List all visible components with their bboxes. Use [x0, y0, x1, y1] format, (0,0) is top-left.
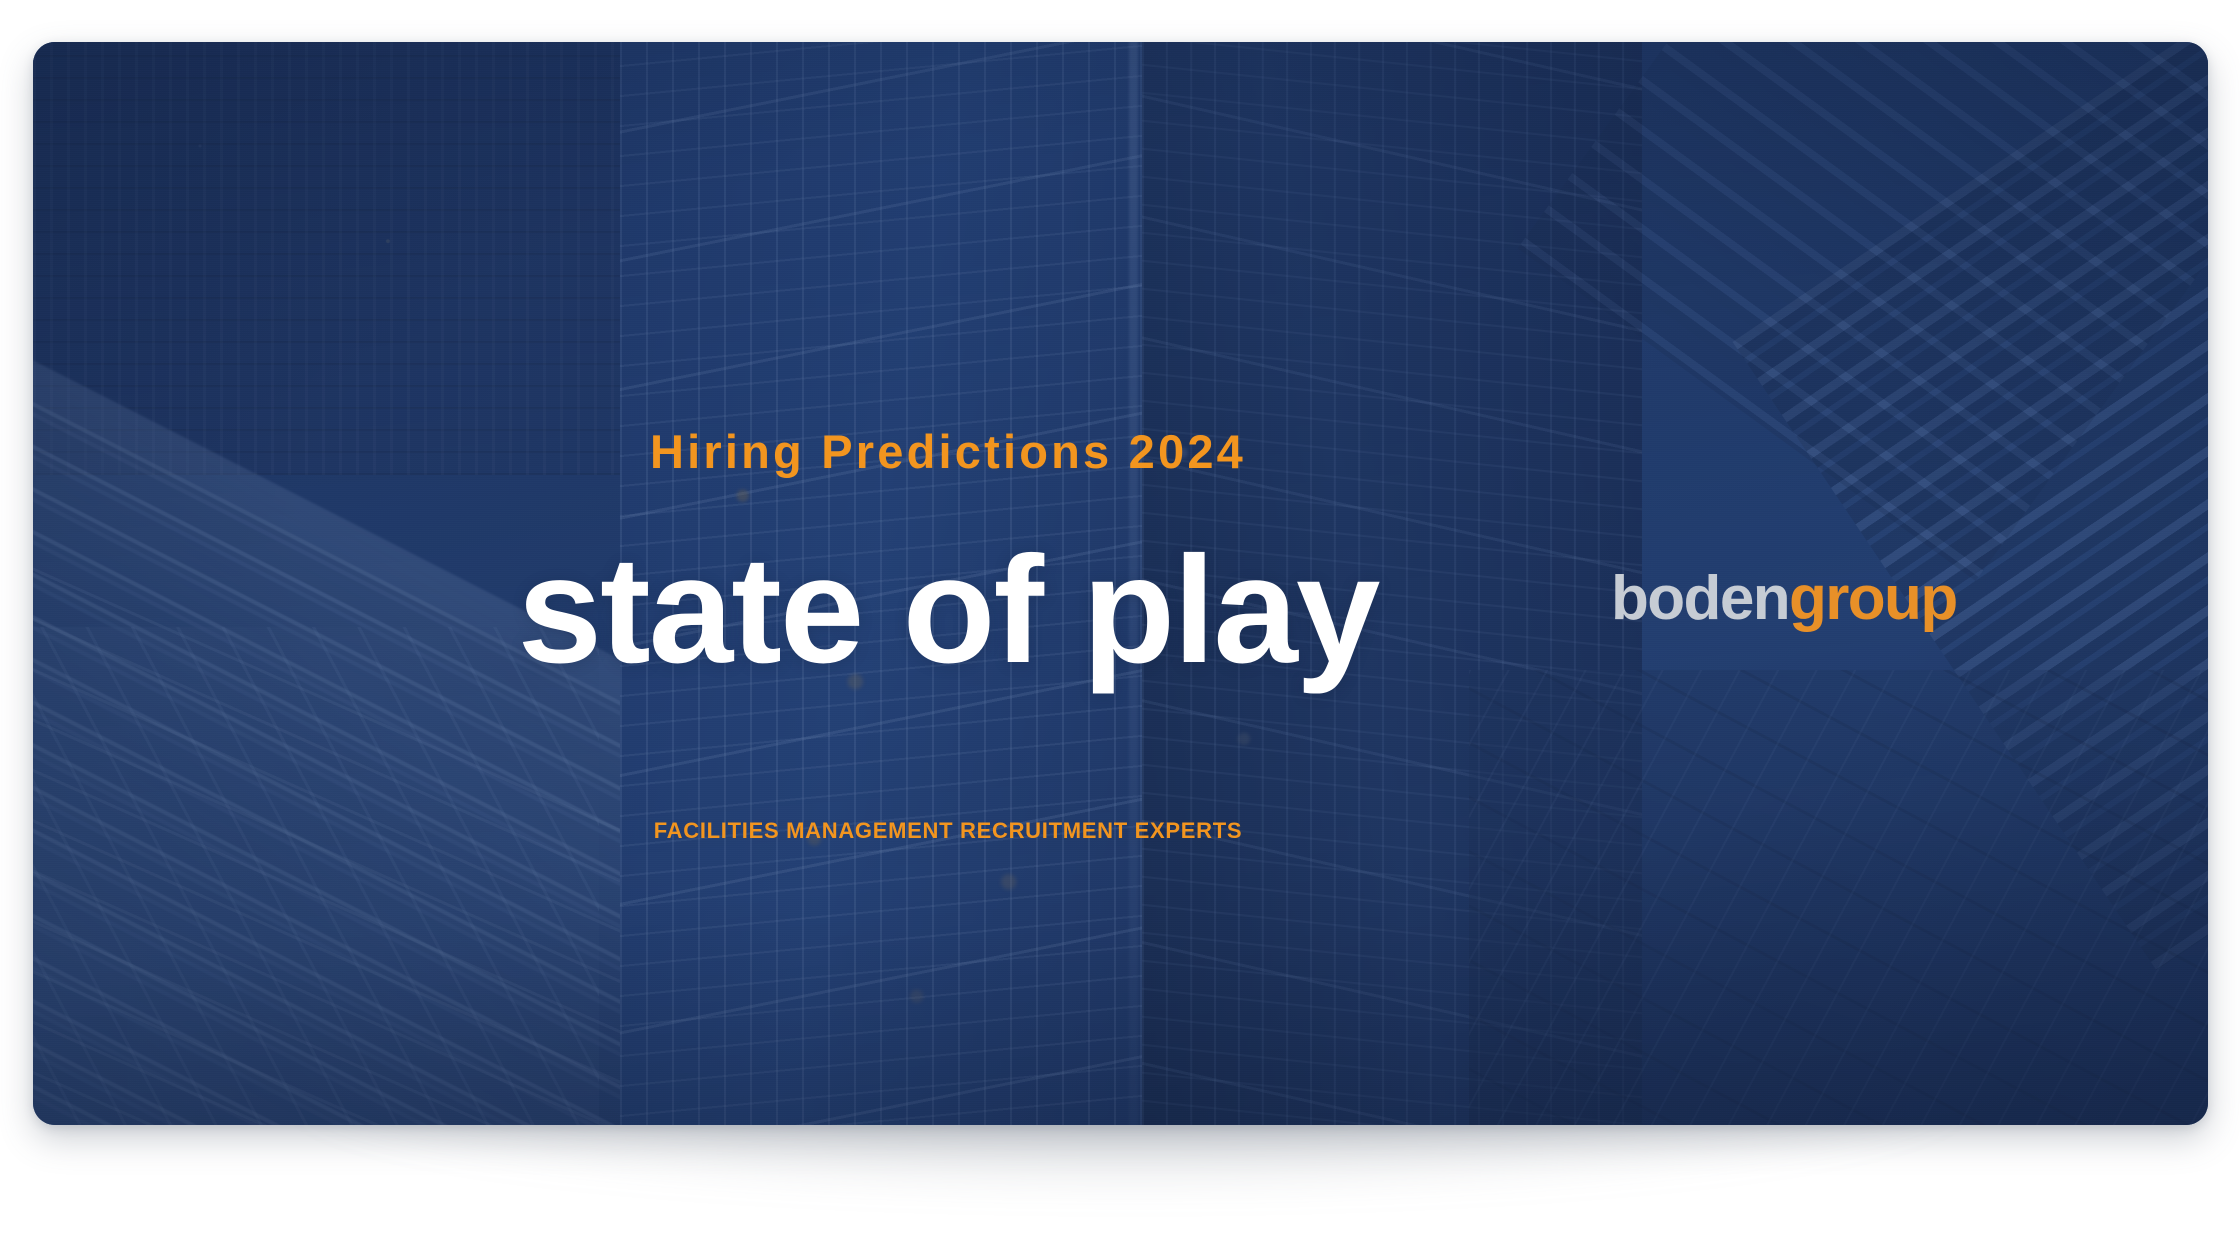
bodengroup-logo[interactable]: bodengroup: [1611, 568, 1957, 630]
slide-kicker: Hiring Predictions 2024: [33, 428, 2208, 475]
logo-text-group: group: [1789, 564, 1957, 633]
presentation-slide-card[interactable]: Hiring Predictions 2024 state of play FA…: [33, 42, 2208, 1125]
slide-stage: Hiring Predictions 2024 state of play FA…: [0, 0, 2240, 1260]
logo-text-boden: boden: [1611, 564, 1789, 633]
slide-tagline: FACILITIES MANAGEMENT RECRUITMENT EXPERT…: [33, 820, 2208, 842]
slide-content: Hiring Predictions 2024 state of play FA…: [33, 42, 2208, 1125]
